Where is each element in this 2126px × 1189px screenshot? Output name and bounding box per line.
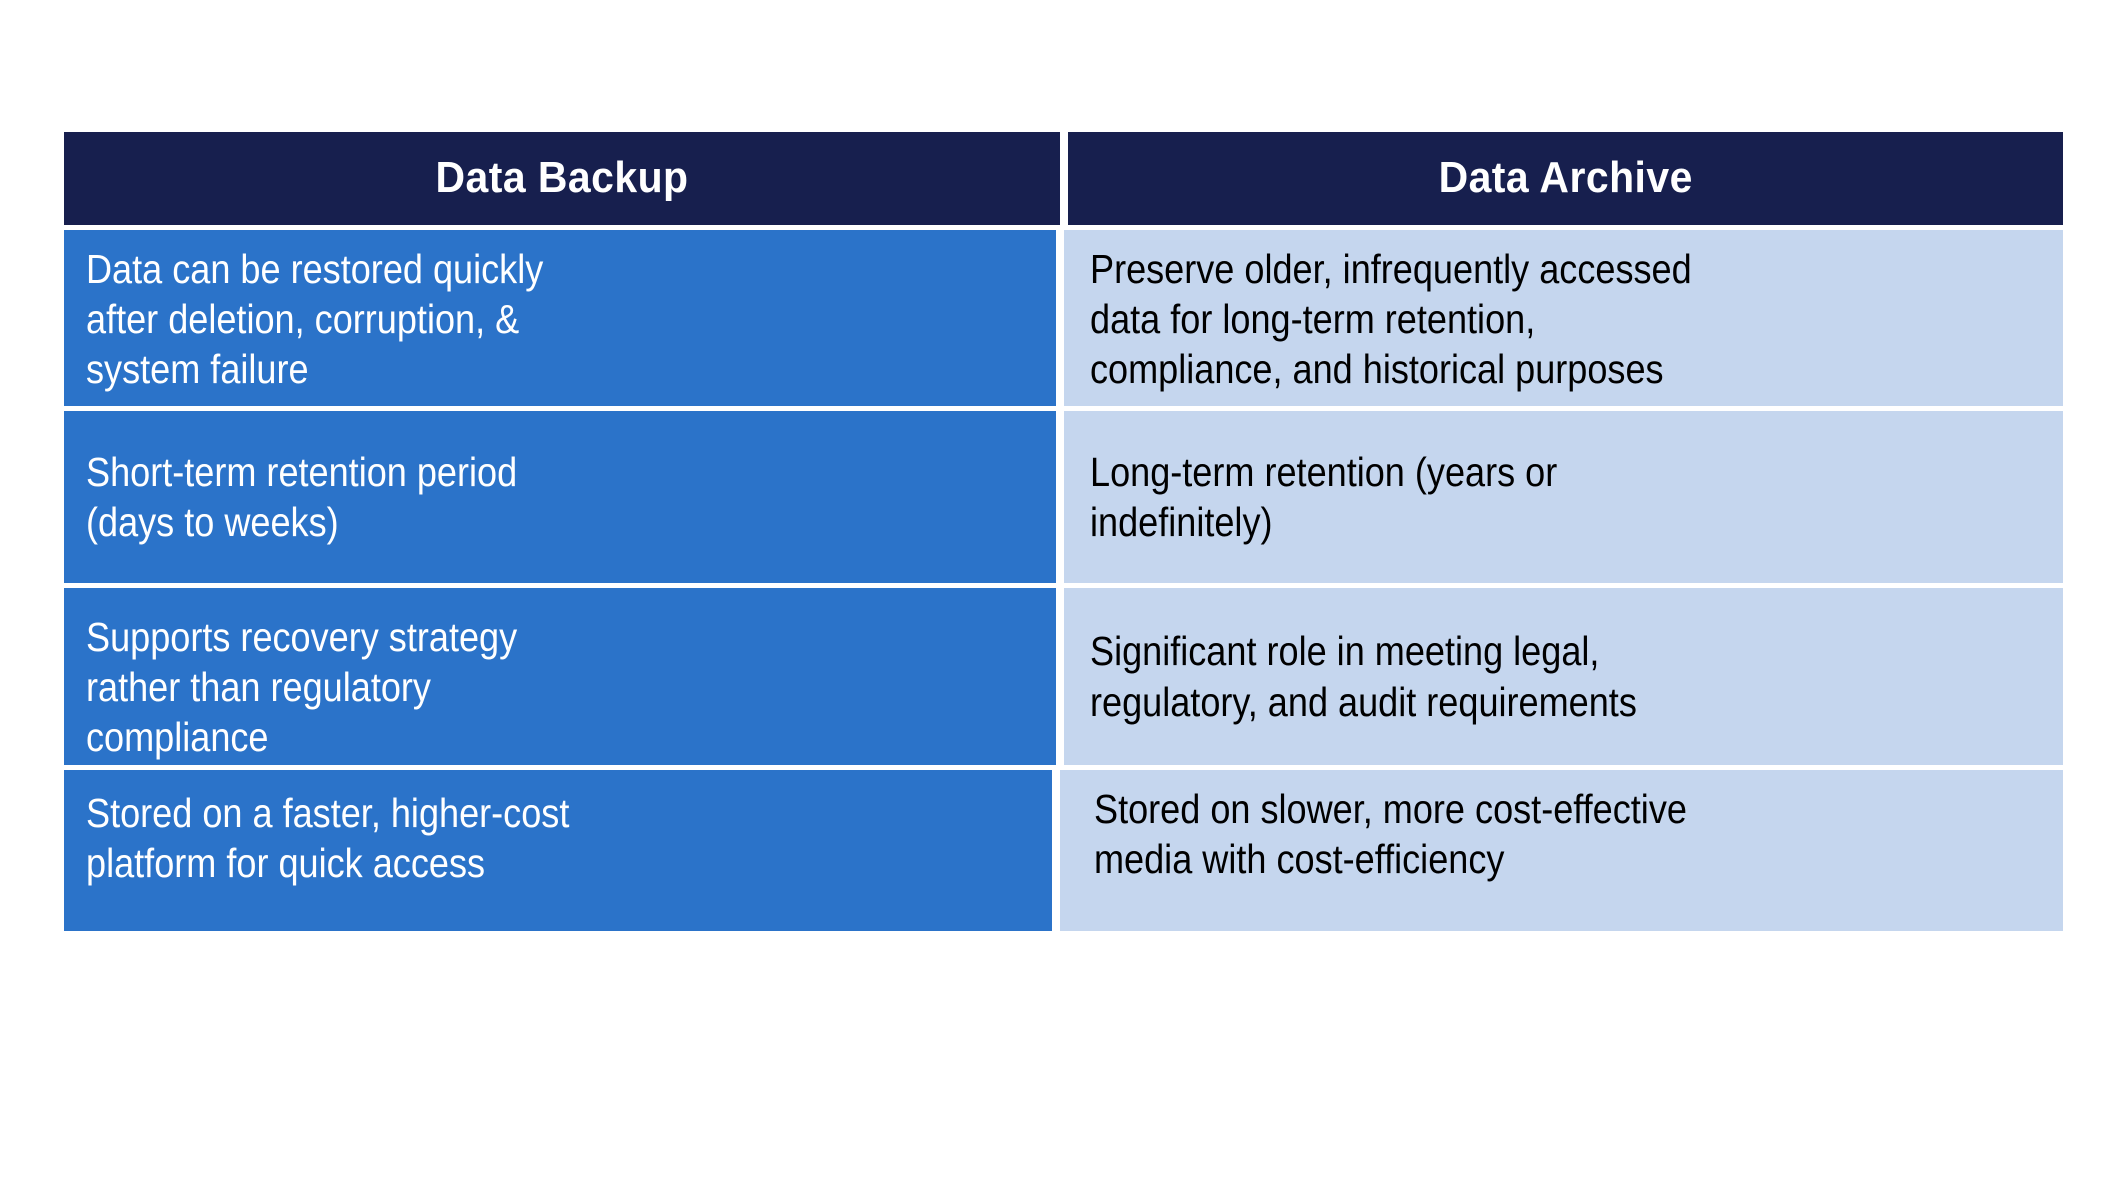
comparison-table: Data Backup Data Archive Data can be res… [64, 132, 2063, 1026]
column-header-label: Data Backup [435, 154, 688, 202]
cell-text: Long-term retention (years or indefinite… [1090, 447, 1924, 547]
cell-text: Supports recovery strategy rather than r… [86, 612, 920, 762]
cell-archive-2: Long-term retention (years or indefinite… [1064, 411, 2064, 583]
cell-backup-4: Stored on a faster, higher-cost platform… [64, 770, 1052, 931]
cell-text: Short-term retention period (days to wee… [86, 447, 920, 547]
column-gap [1060, 132, 1068, 225]
cell-text: Stored on a faster, higher-cost platform… [86, 788, 916, 888]
column-header-label: Data Archive [1438, 154, 1692, 202]
cell-backup-2: Short-term retention period (days to wee… [64, 411, 1056, 583]
column-header-data-backup: Data Backup [64, 132, 1060, 225]
cell-archive-3: Significant role in meeting legal, regul… [1064, 588, 2064, 765]
column-gap [1056, 588, 1064, 765]
column-gap [1056, 230, 1064, 406]
cell-text: Data can be restored quickly after delet… [86, 244, 920, 394]
cell-text: Preserve older, infrequently accessed da… [1090, 244, 1924, 394]
cell-archive-1: Preserve older, infrequently accessed da… [1064, 230, 2064, 406]
table-row: Supports recovery strategy rather than r… [64, 588, 2063, 765]
cell-backup-3: Supports recovery strategy rather than r… [64, 588, 1056, 765]
cell-archive-4: Stored on slower, more cost-effective me… [1060, 770, 2064, 931]
cell-text: Stored on slower, more cost-effective me… [1094, 784, 1924, 884]
column-gap [1052, 770, 1060, 931]
column-header-data-archive: Data Archive [1068, 132, 2064, 225]
table-header-row: Data Backup Data Archive [64, 132, 2063, 225]
table-row: Stored on a faster, higher-cost platform… [64, 770, 2063, 931]
cell-text: Significant role in meeting legal, regul… [1090, 626, 1924, 726]
table-row: Data can be restored quickly after delet… [64, 230, 2063, 406]
cell-backup-1: Data can be restored quickly after delet… [64, 230, 1056, 406]
table-row: Short-term retention period (days to wee… [64, 411, 2063, 583]
column-gap [1056, 411, 1064, 583]
